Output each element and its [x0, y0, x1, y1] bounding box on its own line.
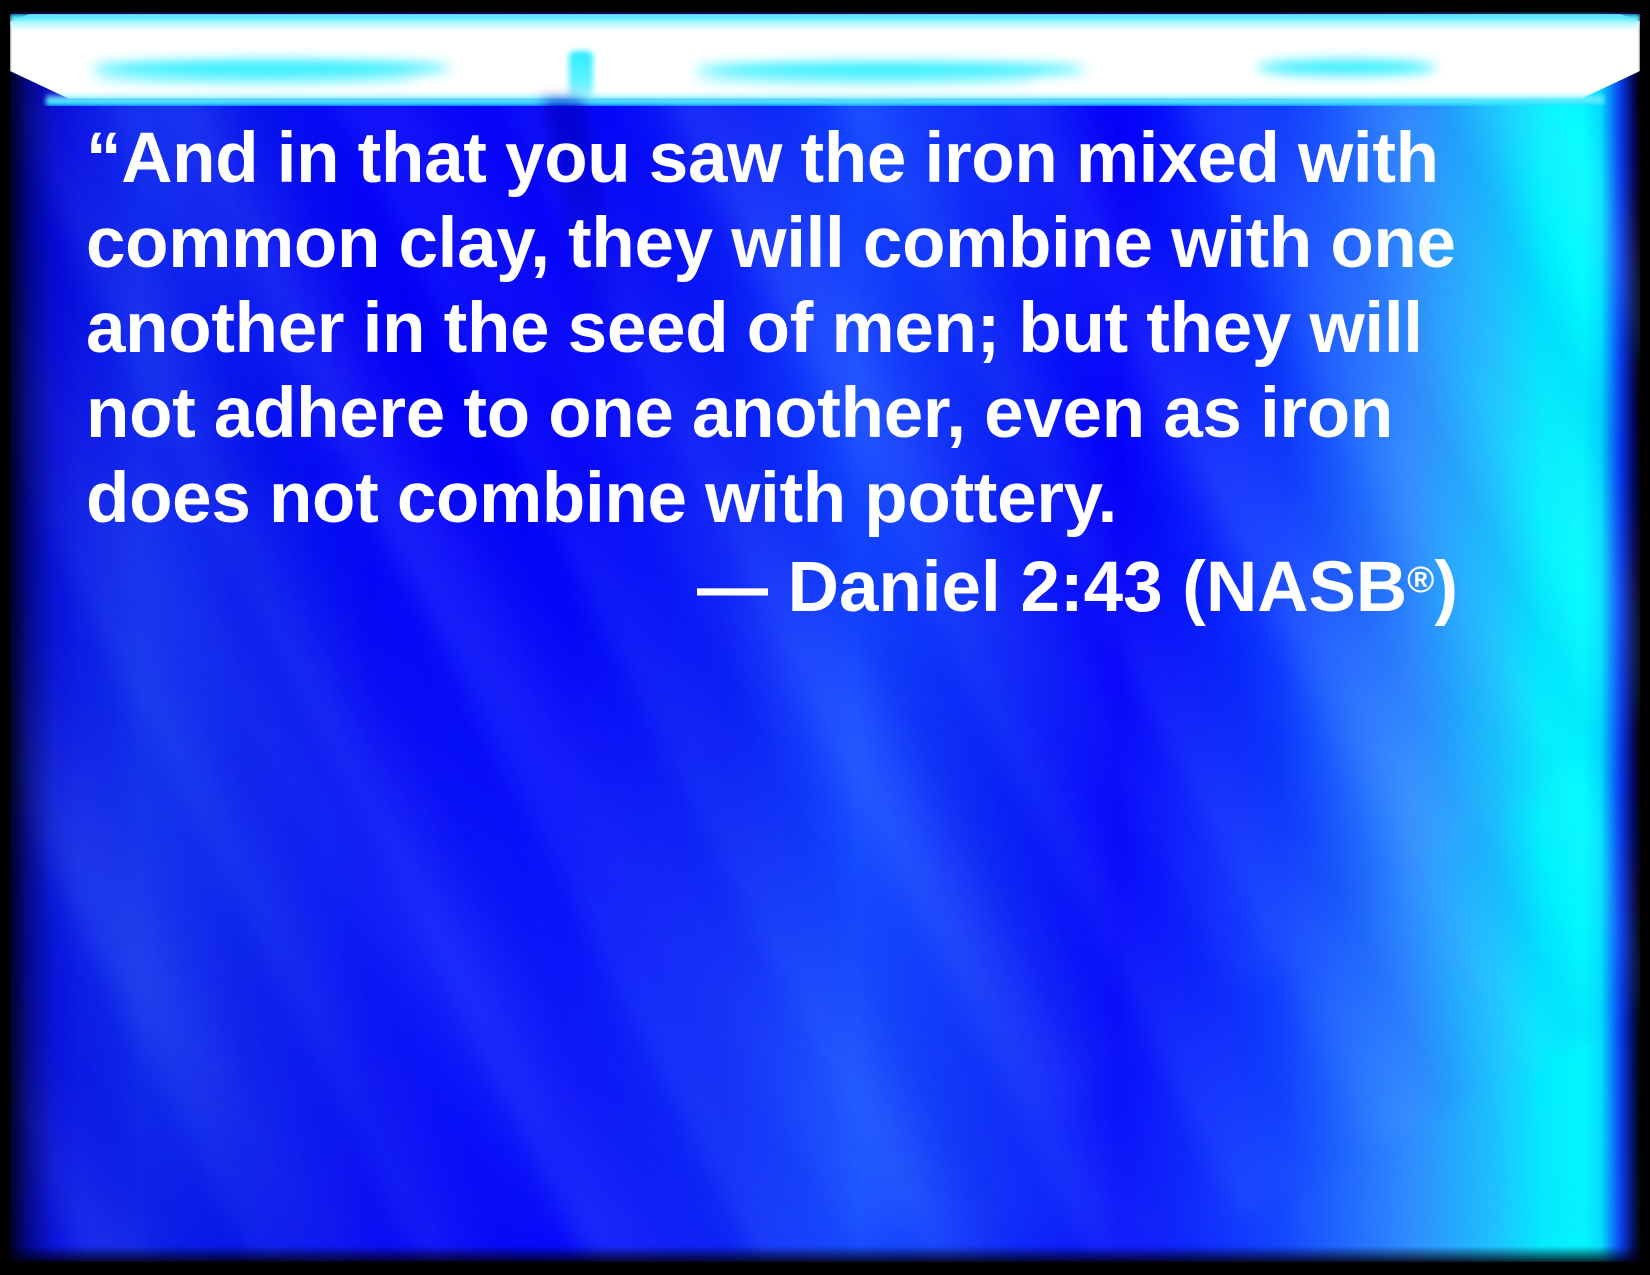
- attribution-suffix: ): [1434, 548, 1458, 627]
- verse-text: “And in that you saw the iron mixed with…: [86, 116, 1458, 541]
- banner-cyan-spike: [569, 51, 593, 106]
- verse-attribution: — Daniel 2:43 (NASB®): [86, 545, 1458, 630]
- banner-cyan-wisp: [92, 71, 418, 84]
- banner-top-glow: [10, 14, 1640, 30]
- verse-block: “And in that you saw the iron mixed with…: [86, 116, 1458, 630]
- banner-bottom-glow: [46, 93, 1604, 106]
- banner-cyan-wisp: [695, 73, 1037, 85]
- background-bottom-vignette: [10, 1246, 1640, 1262]
- scripture-slide: “And in that you saw the iron mixed with…: [0, 0, 1650, 1275]
- top-banner-band: [10, 14, 1640, 106]
- background-left-vignette: [10, 12, 80, 1262]
- banner-cyan-wisp: [1257, 60, 1436, 75]
- attribution-prefix: — Daniel 2:43 (NASB: [697, 548, 1407, 627]
- registered-trademark-icon: ®: [1407, 559, 1434, 600]
